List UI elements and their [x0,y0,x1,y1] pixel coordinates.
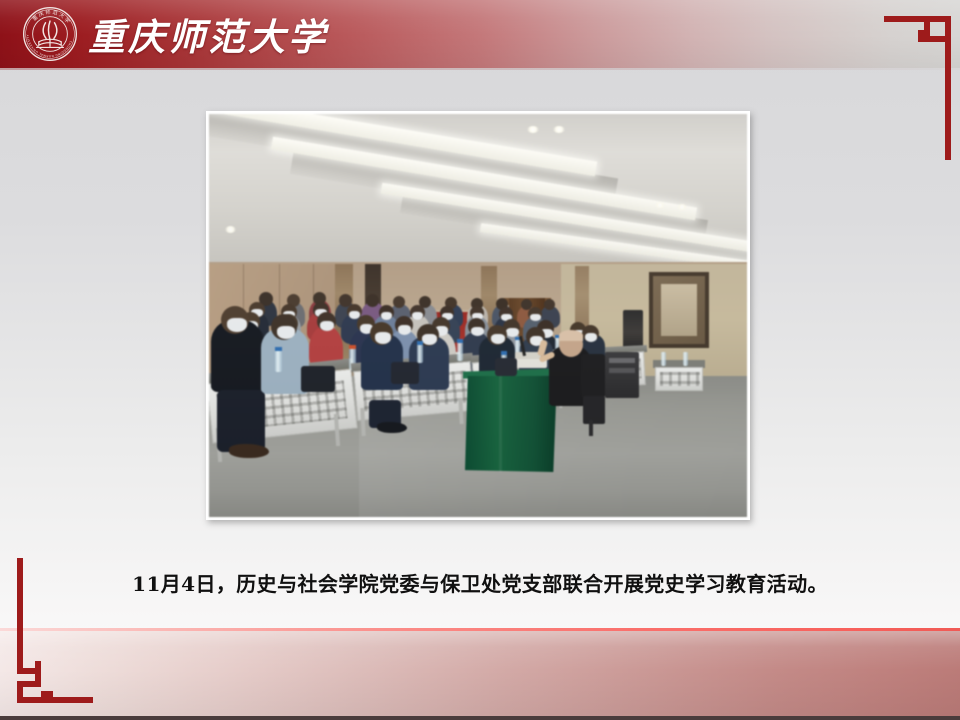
presentation-slide: 重庆师范大学 CHONGQING NORMAL UNIVERSITY 重庆师范大… [0,0,960,720]
activity-photo [209,114,747,517]
activity-photo-frame [206,111,750,520]
footer-edge [0,716,960,720]
photo-caption: 11月4日，历史与社会学院党委与保卫处党支部联合开展党史学习教育活动。 [0,568,960,597]
header-underline [0,68,960,70]
university-seal-icon: 重庆师范大学 CHONGQING NORMAL UNIVERSITY [22,6,78,62]
university-wordmark: 重庆师范大学 [88,6,328,62]
footer-band [0,631,960,718]
